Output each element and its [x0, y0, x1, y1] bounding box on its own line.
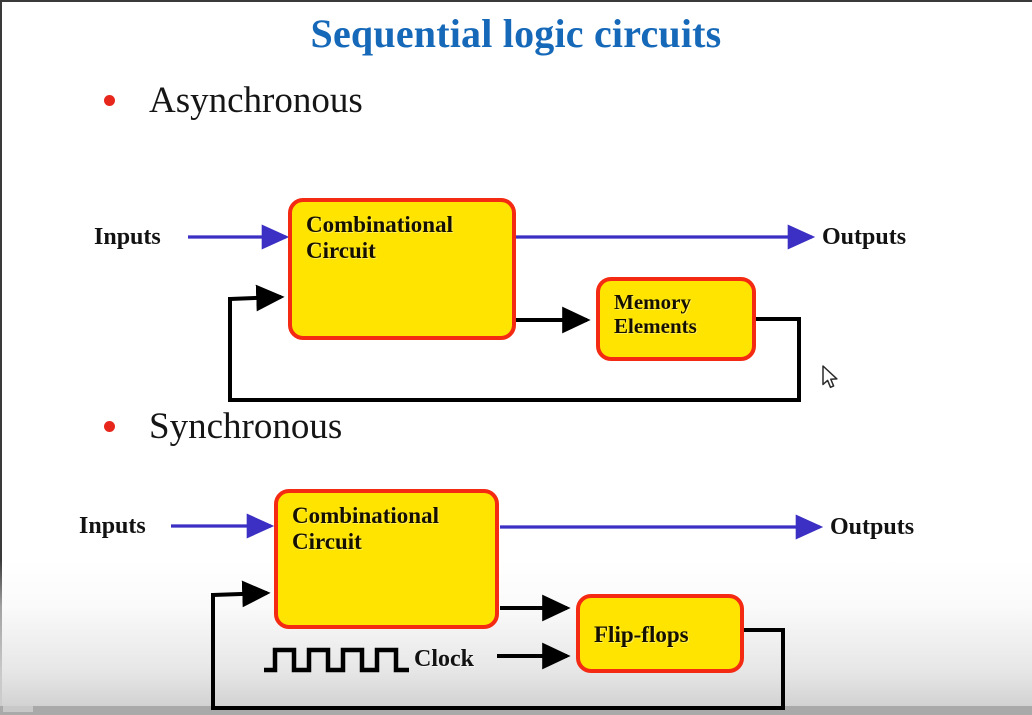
block-label-line1: Combinational	[292, 503, 483, 529]
block-label-line2: Circuit	[292, 529, 483, 555]
bullet-dot-icon	[104, 421, 115, 432]
block-label-line1: Combinational	[306, 212, 500, 238]
block-memory-elements[interactable]: Memory Elements	[596, 277, 756, 361]
bullet-label-synchronous: Synchronous	[149, 408, 342, 445]
bullet-label-asynchronous: Asynchronous	[149, 82, 363, 119]
video-progress-track[interactable]	[0, 706, 1032, 715]
clock-waveform-icon	[264, 650, 409, 670]
page-title: Sequential logic circuits	[0, 10, 1032, 57]
frame-border-top	[0, 0, 1032, 2]
mouse-cursor-arrow-icon	[820, 364, 840, 392]
wire-memory-feedback-arrowhead	[230, 297, 281, 299]
frame-border-left	[0, 0, 2, 715]
block-combinational-circuit-sync[interactable]: Combinational Circuit	[274, 489, 499, 629]
block-label-line1: Memory	[614, 291, 740, 315]
port-label-inputs-sync: Inputs	[79, 513, 146, 540]
bullet-item-synchronous: Synchronous	[104, 408, 342, 445]
block-combinational-circuit-async[interactable]: Combinational Circuit	[288, 198, 516, 340]
bullet-dot-icon	[104, 95, 115, 106]
wire-flipflops-feedback-arrowhead	[213, 593, 267, 595]
port-label-inputs-async: Inputs	[94, 224, 161, 251]
block-label-line1: Flip-flops	[594, 622, 689, 648]
port-label-outputs-sync: Outputs	[830, 514, 914, 541]
slide-canvas: Sequential logic circuits Asynchronous S…	[0, 0, 1032, 715]
port-label-outputs-async: Outputs	[822, 224, 906, 251]
background-gradient	[0, 560, 1032, 715]
video-progress-fill[interactable]	[3, 706, 33, 712]
block-flip-flops[interactable]: Flip-flops	[576, 594, 744, 673]
block-label-line2: Circuit	[306, 238, 500, 264]
port-label-clock: Clock	[414, 646, 474, 673]
bullet-item-asynchronous: Asynchronous	[104, 82, 363, 119]
block-label-line2: Elements	[614, 315, 740, 339]
